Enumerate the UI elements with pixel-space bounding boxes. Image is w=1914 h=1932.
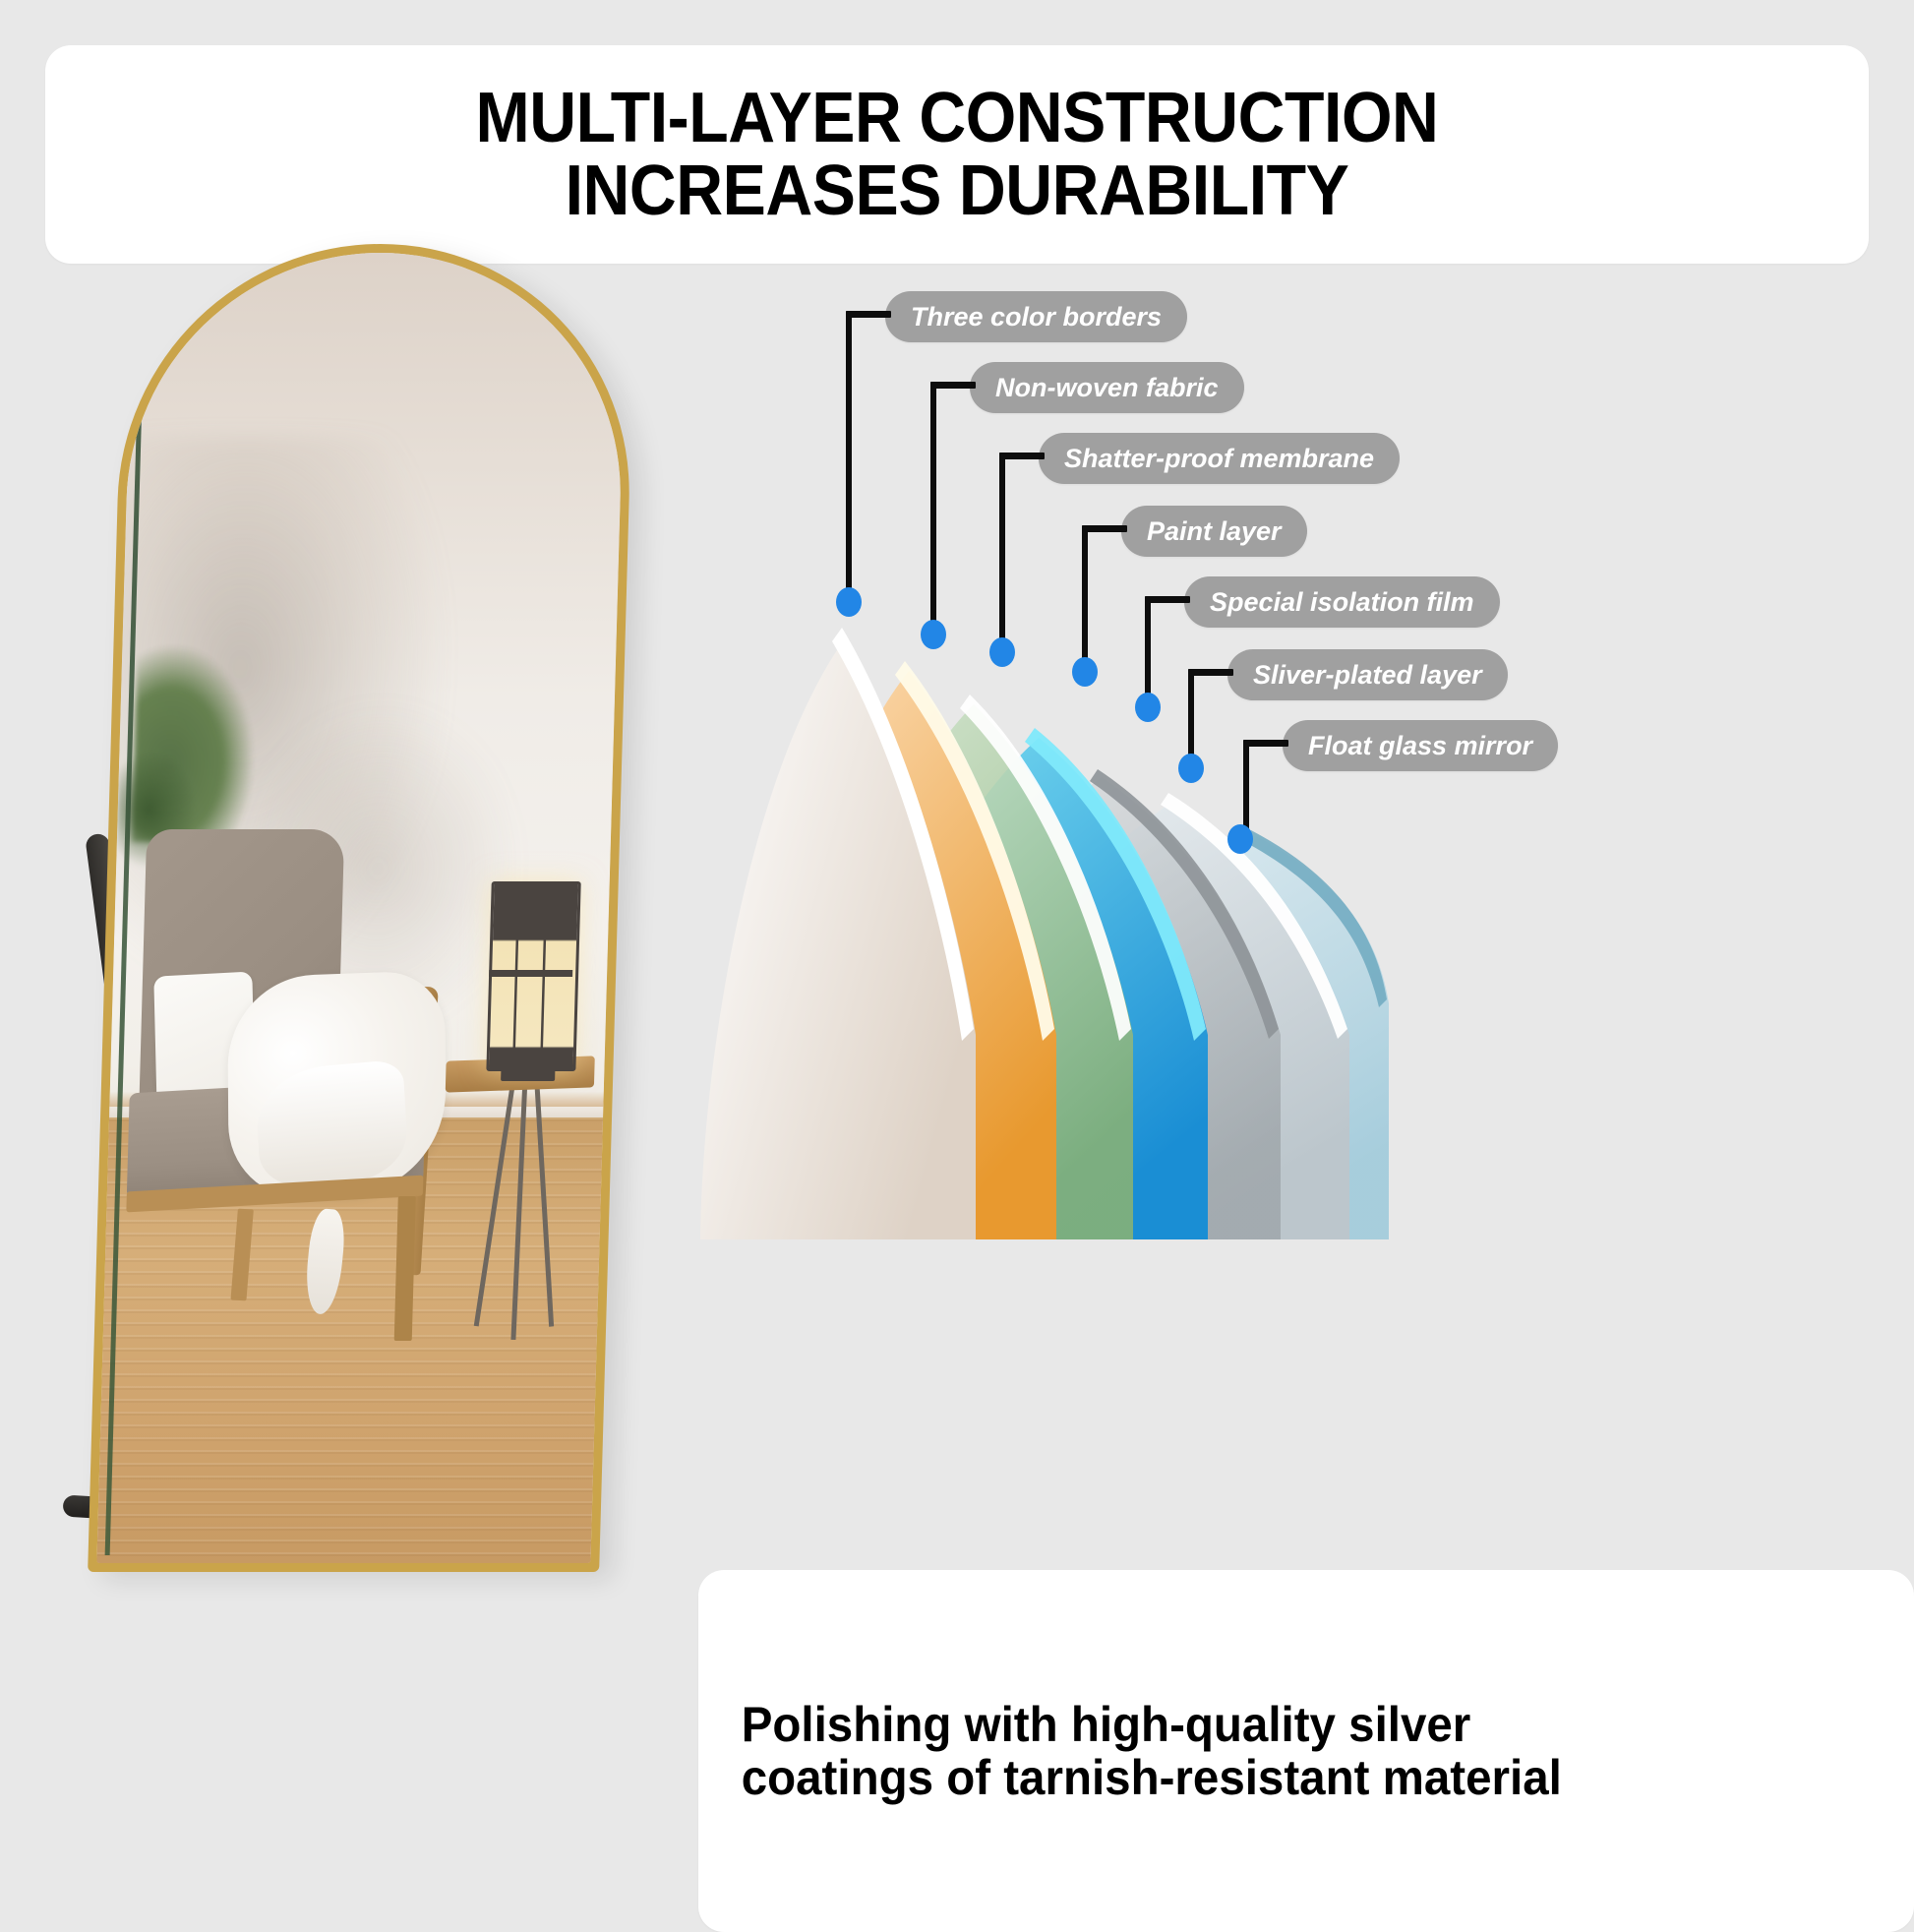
connector-h-sliver-plated-layer (1188, 669, 1233, 676)
connector-v-sliver-plated-layer (1188, 669, 1194, 763)
callout-pill-non-woven-fabric[interactable]: Non-woven fabric (970, 362, 1244, 413)
title-card: MULTI-LAYER CONSTRUCTION INCREASES DURAB… (45, 45, 1869, 264)
room-reflection (96, 253, 627, 1563)
callout-label: Special isolation film (1210, 587, 1474, 618)
connector-h-non-woven-fabric (930, 382, 976, 389)
caption-card: Polishing with high-quality silver coati… (698, 1570, 1914, 1932)
callout-pill-sliver-plated-layer[interactable]: Sliver-plated layer (1227, 649, 1508, 700)
connector-v-shatter-proof-membrane (999, 453, 1005, 647)
connector-h-shatter-proof-membrane (999, 453, 1045, 459)
connector-h-special-isolation-film (1145, 596, 1190, 603)
connector-h-paint-layer (1082, 525, 1127, 532)
callout-label: Sliver-plated layer (1253, 660, 1482, 691)
anchor-dot-special-isolation-film (1135, 693, 1161, 722)
anchor-dot-sliver-plated-layer (1178, 754, 1204, 783)
page-title: MULTI-LAYER CONSTRUCTION INCREASES DURAB… (476, 82, 1439, 227)
connector-h-float-glass-mirror (1243, 740, 1288, 747)
connector-v-paint-layer (1082, 525, 1088, 665)
mirror-frame (88, 244, 636, 1572)
callout-pill-shatter-proof-membrane[interactable]: Shatter-proof membrane (1039, 433, 1400, 484)
anchor-dot-float-glass-mirror (1227, 824, 1253, 854)
anchor-dot-shatter-proof-membrane (989, 637, 1015, 667)
connector-v-non-woven-fabric (930, 382, 936, 630)
callout-pill-paint-layer[interactable]: Paint layer (1121, 506, 1307, 557)
connector-h-three-color-borders (846, 311, 891, 318)
callout-label: Float glass mirror (1308, 731, 1532, 761)
table-lamp-base (501, 1060, 556, 1081)
caption-text: Polishing with high-quality silver coati… (698, 1698, 1562, 1804)
anchor-dot-non-woven-fabric (921, 620, 946, 649)
callout-label: Three color borders (911, 302, 1162, 332)
mirror-glass (96, 253, 627, 1563)
anchor-dot-paint-layer (1072, 657, 1098, 687)
callout-pill-float-glass-mirror[interactable]: Float glass mirror (1283, 720, 1558, 771)
product-photo (59, 244, 688, 1592)
anchor-dot-three-color-borders (836, 587, 862, 617)
infographic-canvas: MULTI-LAYER CONSTRUCTION INCREASES DURAB… (0, 0, 1914, 1914)
callout-label: Non-woven fabric (995, 373, 1219, 403)
connector-v-float-glass-mirror (1243, 740, 1249, 836)
connector-v-special-isolation-film (1145, 596, 1151, 702)
callout-pill-three-color-borders[interactable]: Three color borders (885, 291, 1187, 342)
callout-pill-special-isolation-film[interactable]: Special isolation film (1184, 576, 1500, 628)
connector-v-three-color-borders (846, 311, 852, 598)
table-lamp-grid (486, 881, 575, 1064)
callout-label: Paint layer (1147, 516, 1282, 547)
callout-label: Shatter-proof membrane (1064, 444, 1374, 474)
